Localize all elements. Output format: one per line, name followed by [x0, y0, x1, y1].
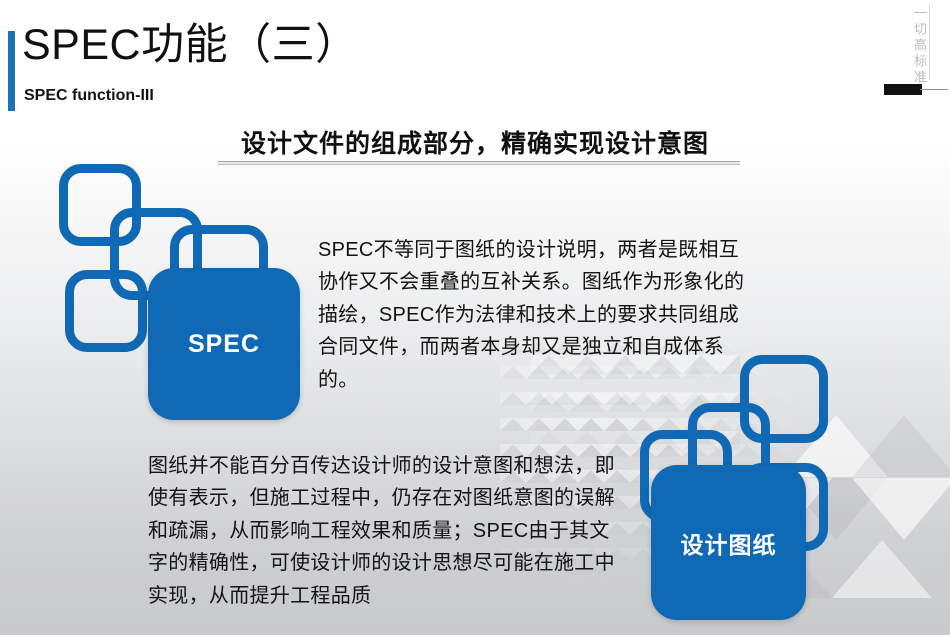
spec-shape-group: SPEC	[55, 160, 305, 420]
black-marker-line	[920, 89, 948, 90]
title-accent-bar	[8, 31, 15, 111]
black-marker-block	[884, 84, 922, 95]
drawing-shape-group: 设计图纸	[640, 355, 905, 630]
paragraph-bottom: 图纸并不能百分百传达设计师的设计意图和想法，即使有表示，但施工过程中，仍存在对图…	[148, 450, 626, 612]
drawing-badge: 设计图纸	[651, 465, 806, 620]
section-heading: 设计文件的组成部分，精确实现设计意图	[0, 124, 950, 160]
vertical-slogan: 一切高标准	[913, 6, 926, 86]
drawing-badge-label: 设计图纸	[681, 526, 777, 560]
page-subtitle-en: SPEC function-III	[24, 87, 154, 105]
spec-badge: SPEC	[148, 268, 300, 420]
spec-badge-label: SPEC	[188, 330, 260, 359]
paragraph-top: SPEC不等同于图纸的设计说明，两者是既相互协作又不会重叠的互补关系。图纸作为形…	[318, 234, 748, 396]
vertical-divider	[929, 4, 930, 80]
page-title: SPEC功能（三）	[22, 22, 359, 69]
slide-canvas: SPEC功能（三） SPEC function-III 一切高标准 设计文件的组…	[0, 0, 950, 635]
